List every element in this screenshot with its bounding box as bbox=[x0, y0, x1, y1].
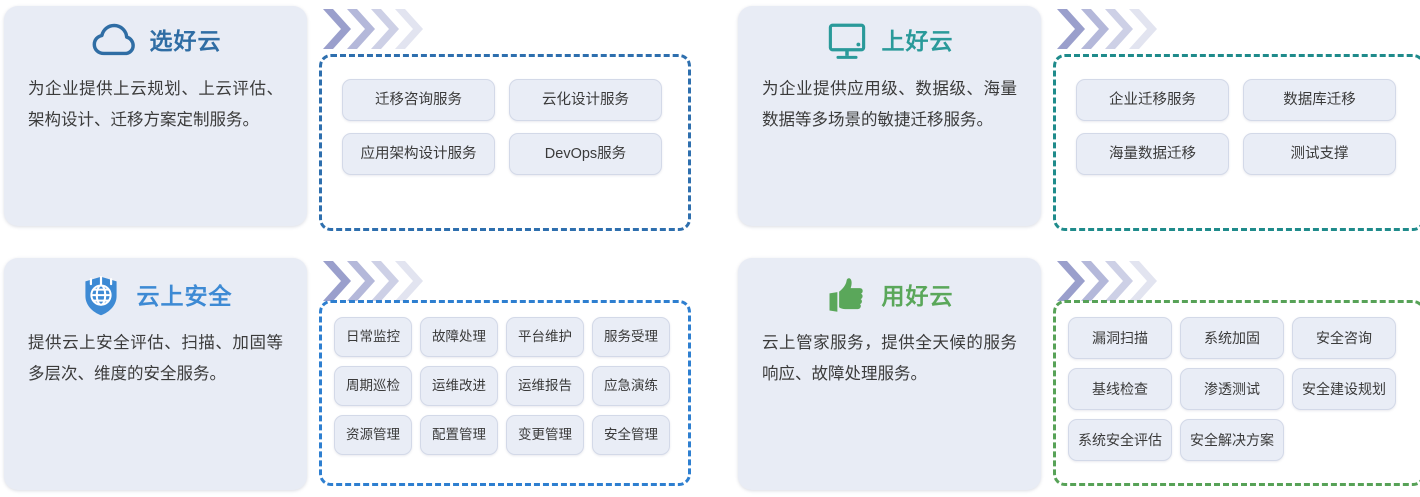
service-tag[interactable]: 渗透测试 bbox=[1180, 368, 1284, 410]
service-tag[interactable]: 应急演练 bbox=[592, 366, 670, 406]
card-description: 为企业提供应用级、数据级、海量数据等多场景的敏捷迁移服务。 bbox=[762, 74, 1017, 136]
service-tag[interactable]: DevOps服务 bbox=[509, 133, 662, 175]
service-tag[interactable]: 资源管理 bbox=[334, 415, 412, 455]
chevron-right-icon bbox=[1127, 259, 1157, 303]
chevron-right-icon bbox=[393, 259, 423, 303]
service-tag[interactable]: 周期巡检 bbox=[334, 366, 412, 406]
chevron-arrows-group bbox=[1055, 258, 1151, 304]
service-tag[interactable]: 应用架构设计服务 bbox=[342, 133, 495, 175]
service-tag[interactable]: 系统加固 bbox=[1180, 317, 1284, 359]
chevron-arrows-group bbox=[321, 258, 417, 304]
info-card: 选好云 为企业提供上云规划、上云评估、架构设计、迁移方案定制服务。 bbox=[4, 6, 307, 226]
right-column: 日常监控 故障处理 平台维护 服务受理 周期巡检 运维改进 运维报告 应急演练 … bbox=[319, 258, 704, 496]
monitor-icon bbox=[826, 20, 868, 62]
card-title: 上好云 bbox=[882, 30, 954, 53]
quadrant-onto-cloud: 上好云 为企业提供应用级、数据级、海量数据等多场景的敏捷迁移服务。 企业迁移服务… bbox=[738, 6, 1420, 246]
service-tag[interactable]: 安全解决方案 bbox=[1180, 419, 1284, 461]
service-tag[interactable]: 平台维护 bbox=[506, 317, 584, 357]
service-tag[interactable]: 海量数据迁移 bbox=[1076, 133, 1229, 175]
card-header: 用好云 bbox=[738, 258, 1041, 314]
card-header: 上好云 bbox=[738, 6, 1041, 62]
chevron-right-icon bbox=[1127, 7, 1157, 51]
service-tag[interactable]: 云化设计服务 bbox=[509, 79, 662, 121]
shield-globe-icon bbox=[79, 274, 123, 318]
info-card: 用好云 云上管家服务，提供全天候的服务响应、故障处理服务。 bbox=[738, 258, 1041, 490]
quadrant-cloud-security: 云上安全 提供云上安全评估、扫描、加固等多层次、维度的安全服务。 日常监控 故障… bbox=[4, 258, 704, 496]
chevron-arrows-group bbox=[1055, 6, 1151, 52]
service-tag[interactable]: 企业迁移服务 bbox=[1076, 79, 1229, 121]
service-tag[interactable]: 故障处理 bbox=[420, 317, 498, 357]
tag-grid: 漏洞扫描 系统加固 安全咨询 基线检查 渗透测试 安全建设规划 系统安全评估 安… bbox=[1068, 317, 1410, 461]
service-tag[interactable]: 漏洞扫描 bbox=[1068, 317, 1172, 359]
services-panel: 漏洞扫描 系统加固 安全咨询 基线检查 渗透测试 安全建设规划 系统安全评估 安… bbox=[1053, 300, 1420, 486]
service-tag[interactable]: 运维报告 bbox=[506, 366, 584, 406]
right-column: 企业迁移服务 数据库迁移 海量数据迁移 测试支撑 bbox=[1053, 6, 1420, 246]
service-tag[interactable]: 配置管理 bbox=[420, 415, 498, 455]
cloud-icon bbox=[90, 18, 136, 64]
service-tag[interactable]: 基线检查 bbox=[1068, 368, 1172, 410]
quadrant-use-cloud: 用好云 云上管家服务，提供全天候的服务响应、故障处理服务。 漏洞扫描 系统加固 … bbox=[738, 258, 1420, 496]
quadrant-select-cloud: 选好云 为企业提供上云规划、上云评估、架构设计、迁移方案定制服务。 迁移咨询服务… bbox=[4, 6, 704, 246]
service-tag[interactable]: 测试支撑 bbox=[1243, 133, 1396, 175]
card-title: 云上安全 bbox=[137, 285, 233, 308]
service-overview-board: 选好云 为企业提供上云规划、上云评估、架构设计、迁移方案定制服务。 迁移咨询服务… bbox=[0, 0, 1420, 497]
right-column: 漏洞扫描 系统加固 安全咨询 基线检查 渗透测试 安全建设规划 系统安全评估 安… bbox=[1053, 258, 1420, 496]
service-tag[interactable]: 迁移咨询服务 bbox=[342, 79, 495, 121]
service-tag[interactable]: 运维改进 bbox=[420, 366, 498, 406]
card-description: 云上管家服务，提供全天候的服务响应、故障处理服务。 bbox=[762, 328, 1017, 390]
card-description: 为企业提供上云规划、上云评估、架构设计、迁移方案定制服务。 bbox=[28, 74, 283, 136]
card-title: 用好云 bbox=[882, 285, 954, 308]
service-tag[interactable]: 数据库迁移 bbox=[1243, 79, 1396, 121]
service-tag[interactable]: 安全管理 bbox=[592, 415, 670, 455]
services-panel: 迁移咨询服务 云化设计服务 应用架构设计服务 DevOps服务 bbox=[319, 54, 691, 231]
service-tag[interactable]: 服务受理 bbox=[592, 317, 670, 357]
service-tag[interactable]: 日常监控 bbox=[334, 317, 412, 357]
tag-grid: 日常监控 故障处理 平台维护 服务受理 周期巡检 运维改进 运维报告 应急演练 … bbox=[334, 317, 676, 455]
card-description: 提供云上安全评估、扫描、加固等多层次、维度的安全服务。 bbox=[28, 328, 283, 390]
tag-grid: 迁移咨询服务 云化设计服务 应用架构设计服务 DevOps服务 bbox=[342, 79, 668, 175]
service-tag[interactable]: 系统安全评估 bbox=[1068, 419, 1172, 461]
chevron-arrows-group bbox=[321, 6, 417, 52]
tag-grid: 企业迁移服务 数据库迁移 海量数据迁移 测试支撑 bbox=[1076, 79, 1402, 175]
services-panel: 日常监控 故障处理 平台维护 服务受理 周期巡检 运维改进 运维报告 应急演练 … bbox=[319, 300, 691, 486]
info-card: 上好云 为企业提供应用级、数据级、海量数据等多场景的敏捷迁移服务。 bbox=[738, 6, 1041, 226]
card-header: 云上安全 bbox=[4, 258, 307, 314]
services-panel: 企业迁移服务 数据库迁移 海量数据迁移 测试支撑 bbox=[1053, 54, 1420, 231]
card-header: 选好云 bbox=[4, 6, 307, 62]
service-tag[interactable]: 安全建设规划 bbox=[1292, 368, 1396, 410]
right-column: 迁移咨询服务 云化设计服务 应用架构设计服务 DevOps服务 bbox=[319, 6, 704, 246]
thumbs-up-icon bbox=[826, 275, 868, 317]
chevron-right-icon bbox=[393, 7, 423, 51]
card-title: 选好云 bbox=[150, 30, 222, 53]
service-tag[interactable]: 安全咨询 bbox=[1292, 317, 1396, 359]
info-card: 云上安全 提供云上安全评估、扫描、加固等多层次、维度的安全服务。 bbox=[4, 258, 307, 490]
service-tag[interactable]: 变更管理 bbox=[506, 415, 584, 455]
